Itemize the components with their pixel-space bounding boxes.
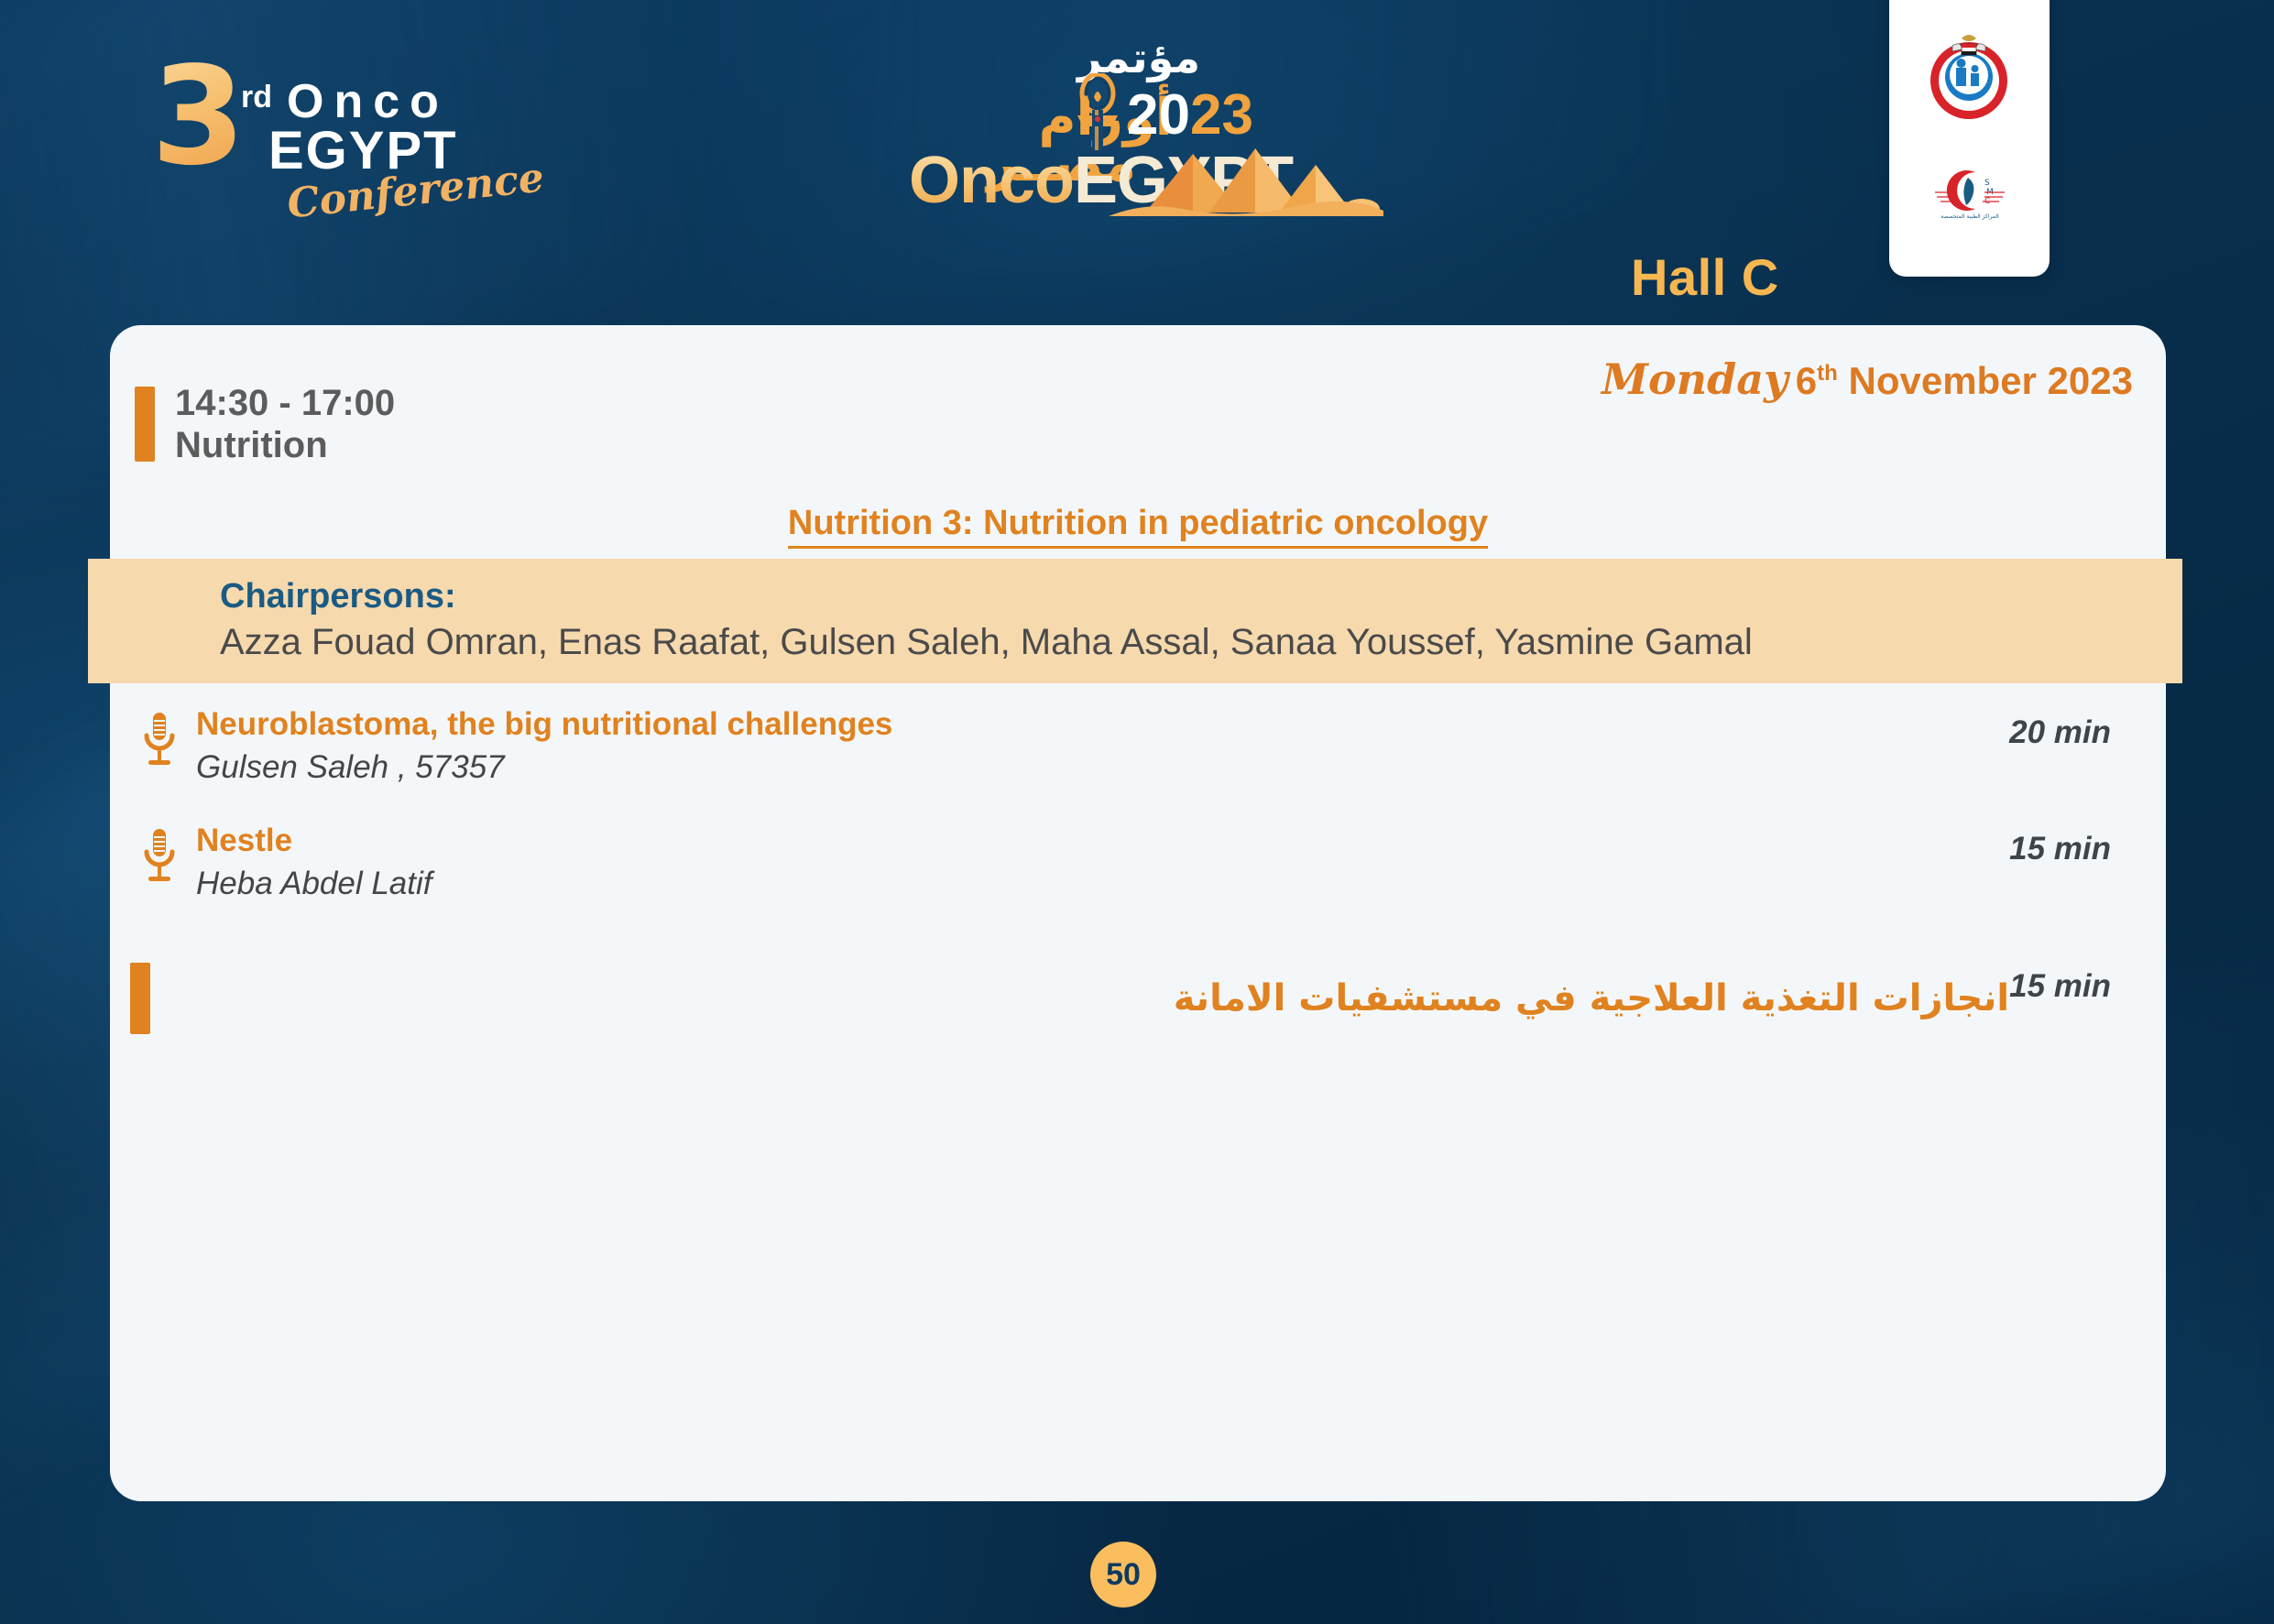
pyramids-icon: [1109, 141, 1383, 216]
ministry-logos-badge: S M C المراكز الطبية المتخصصة: [1889, 0, 2050, 277]
date-month-year: November 2023: [1848, 359, 2133, 402]
logo-year-second: 23: [1190, 83, 1253, 147]
chairpersons-label: Chairpersons:: [220, 577, 2182, 616]
specialized-medical-centers-emblem-icon: S M C المراكز الطبية المتخصصة: [1928, 165, 2012, 222]
oncoegypt-2023-logo: مؤتمر أورام 2023 مصــر OncoEGYPT: [898, 26, 1374, 300]
session-header: 14:30 - 17:00 Nutrition: [135, 383, 395, 466]
talk-row: Neuroblastoma, the big nutritional chall…: [110, 705, 2166, 787]
logo-year-first: 20: [1127, 83, 1190, 147]
session-title: Nutrition 3: Nutrition in pediatric onco…: [788, 504, 1488, 549]
talk-speaker: Gulsen Saleh , 57357: [196, 748, 2009, 786]
session-title-row: Nutrition 3: Nutrition in pediatric onco…: [110, 504, 2166, 543]
conference-agenda-slide: 3 rd Onco EGYPT Conference مؤتمر أورام 2…: [0, 0, 2274, 1624]
logo-latin-onco: Onco: [909, 144, 1074, 217]
page-number: 50: [1106, 1557, 1141, 1593]
logo-edition-ordinal: rd: [241, 80, 272, 115]
page-number-badge: 50: [1090, 1542, 1156, 1608]
talk-speaker: Heba Abdel Latif: [196, 865, 2009, 902]
arabic-talk-row: انجازات التغذية العلاجية في مستشفيات الا…: [110, 959, 2166, 1038]
session-accent-bar: [135, 387, 155, 462]
talk-title: Neuroblastoma, the big nutritional chall…: [196, 705, 2009, 743]
microphone-icon: [141, 711, 178, 768]
svg-text:المراكز الطبية المتخصصة: المراكز الطبية المتخصصة: [1941, 213, 1999, 220]
date-ordinal: th: [1817, 361, 1838, 386]
talks-list: Neuroblastoma, the big nutritional chall…: [110, 705, 2166, 1038]
session-track: Nutrition: [175, 425, 395, 467]
microphone-icon: [141, 827, 178, 884]
svg-text:S: S: [1984, 179, 1990, 188]
talk-title: Nestle: [196, 822, 2009, 859]
onco-egypt-conference-logo: 3 rd Onco EGYPT Conference: [151, 69, 536, 197]
hall-label: Hall C: [1631, 247, 1779, 307]
arabic-talk-duration: 15 min: [2009, 968, 2111, 1005]
agenda-card: Monday6th November 2023 14:30 - 17:00 Nu…: [110, 325, 2166, 1501]
arabic-talk-accent-bar: [130, 963, 150, 1034]
logo-year: 2023: [1127, 82, 1253, 147]
date-day: 6: [1796, 359, 1817, 402]
date-weekday: Monday: [1602, 354, 1788, 404]
talk-duration: 20 min: [2009, 714, 2111, 751]
chairpersons-names: Azza Fouad Omran, Enas Raafat, Gulsen Sa…: [220, 622, 2182, 663]
chairpersons-band: Chairpersons: Azza Fouad Omran, Enas Raa…: [88, 559, 2182, 683]
session-date: Monday6th November 2023: [1602, 354, 2133, 404]
ministry-of-health-emblem-icon: [1921, 27, 2017, 123]
session-time: 14:30 - 17:00: [175, 383, 395, 425]
arabic-talk-title: انجازات التغذية العلاجية في مستشفيات الا…: [174, 977, 2009, 1019]
logo-edition-number: 3: [151, 49, 242, 184]
talk-duration: 15 min: [2009, 831, 2111, 867]
talk-row: Nestle Heba Abdel Latif 15 min: [110, 822, 2166, 903]
